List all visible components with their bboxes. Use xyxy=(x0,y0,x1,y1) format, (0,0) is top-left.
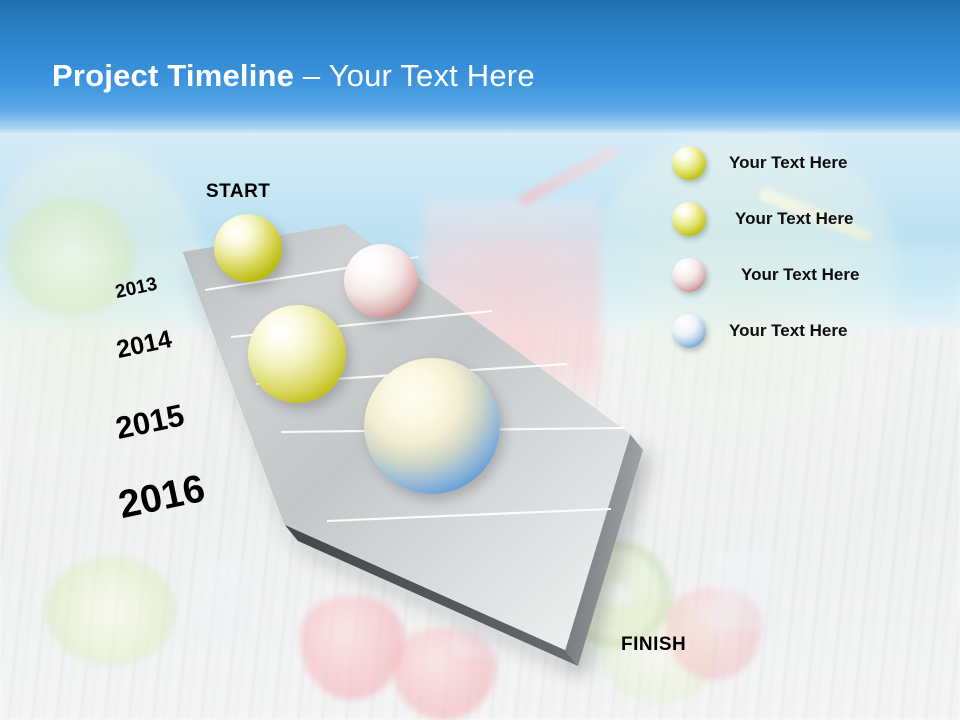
milestone-sphere-1[interactable] xyxy=(214,214,282,282)
milestone-sphere-4[interactable] xyxy=(364,358,500,494)
legend-item-label: Your Text Here xyxy=(735,209,853,229)
legend-item-label: Your Text Here xyxy=(741,265,859,285)
start-label: START xyxy=(206,181,270,203)
legend-item-4[interactable]: Your Text Here xyxy=(672,314,847,348)
legend-item-label: Your Text Here xyxy=(729,153,847,173)
timeline-ramp xyxy=(0,0,960,720)
milestone-sphere-2[interactable] xyxy=(344,244,418,318)
legend-bullet-sphere-icon xyxy=(672,314,706,348)
legend-bullet-sphere-icon xyxy=(672,258,706,292)
milestone-sphere-3[interactable] xyxy=(248,305,346,403)
legend-item-3[interactable]: Your Text Here xyxy=(672,258,859,292)
ramp-graphic xyxy=(0,0,960,720)
legend-bullet-sphere-icon xyxy=(672,146,706,180)
legend-item-2[interactable]: Your Text Here xyxy=(672,202,853,236)
finish-label: FINISH xyxy=(621,634,686,656)
legend-bullet-sphere-icon xyxy=(672,202,706,236)
slide-canvas: Project Timeline – Your Text Here xyxy=(0,0,960,720)
legend-item-label: Your Text Here xyxy=(729,321,847,341)
legend-item-1[interactable]: Your Text Here xyxy=(672,146,847,180)
